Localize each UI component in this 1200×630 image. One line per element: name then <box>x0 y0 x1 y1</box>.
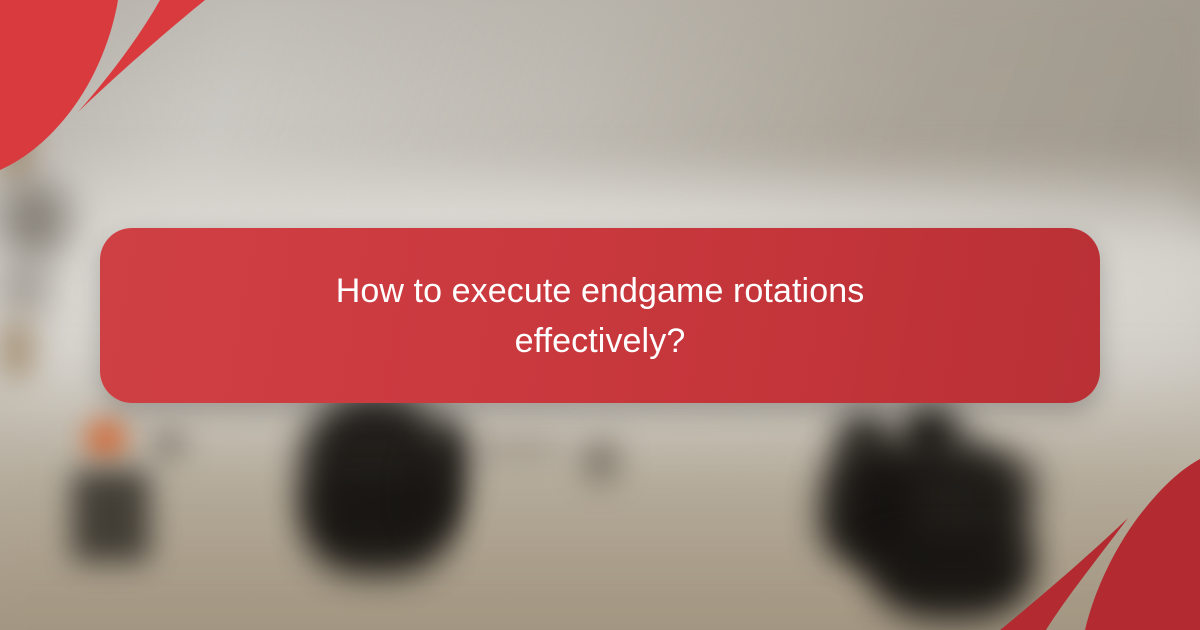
athlete-left-leg-near <box>0 0 30 90</box>
gym-equipment-small <box>152 430 186 460</box>
gym-equipment-bar <box>470 437 565 463</box>
share-card-canvas: How to execute endgame rotations effecti… <box>0 0 1200 630</box>
background-blur-blob-center <box>0 180 70 260</box>
athlete-right-leg <box>0 320 34 380</box>
athlete-right-hip <box>872 540 1032 620</box>
athlete-left-leg-far <box>0 90 32 180</box>
question-card: How to execute endgame rotations effecti… <box>100 228 1100 403</box>
gym-equipment-dark <box>72 470 150 562</box>
background-blur-blob-center-2 <box>0 260 50 320</box>
gym-equipment-orange <box>85 418 127 460</box>
gym-equipment-bar-secondary <box>582 440 620 484</box>
question-title-line-1: How to execute endgame rotations <box>336 272 865 310</box>
question-title: How to execute endgame rotations effecti… <box>336 266 865 366</box>
question-title-line-2: effectively? <box>515 322 686 360</box>
